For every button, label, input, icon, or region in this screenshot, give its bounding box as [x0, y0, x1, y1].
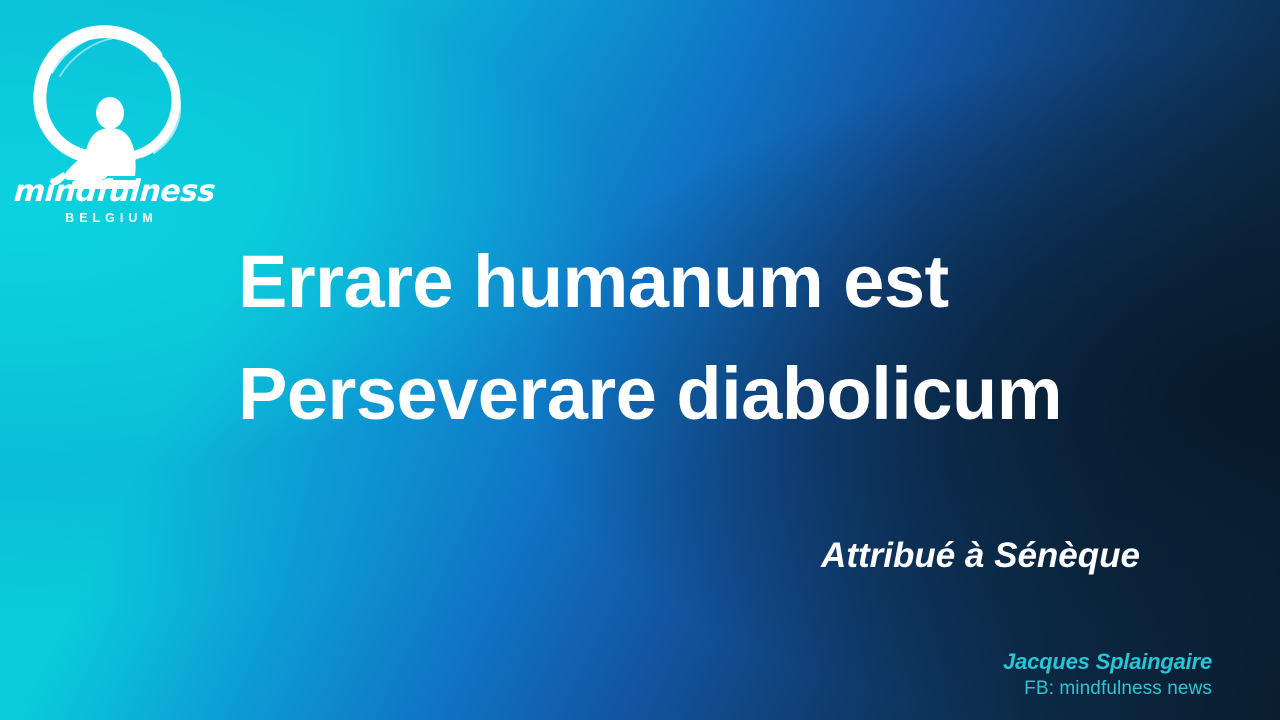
credit-social-handle: FB: mindfulness news — [792, 676, 1212, 702]
slide-content: mindfulness BELGIUM Errare humanum est P… — [0, 0, 1280, 720]
credit-author: Jacques Splaingaire — [792, 648, 1212, 676]
logo-artwork — [14, 14, 214, 194]
quote-attribution: Attribué à Sénèque — [0, 536, 1140, 576]
title-line-1: Errare humanum est — [238, 226, 1238, 338]
title-line-2: Perseverare diabolicum — [238, 338, 1238, 450]
logo-wordmark: mindfulness — [13, 177, 205, 207]
presentation-slide: mindfulness BELGIUM Errare humanum est P… — [0, 0, 1280, 720]
slide-credits: Jacques Splaingaire FB: mindfulness news — [792, 648, 1212, 701]
slide-title: Errare humanum est Perseverare diabolicu… — [238, 226, 1238, 451]
logo-subtitle: BELGIUM — [14, 212, 204, 225]
mindfulness-belgium-logo: mindfulness BELGIUM — [14, 14, 214, 234]
